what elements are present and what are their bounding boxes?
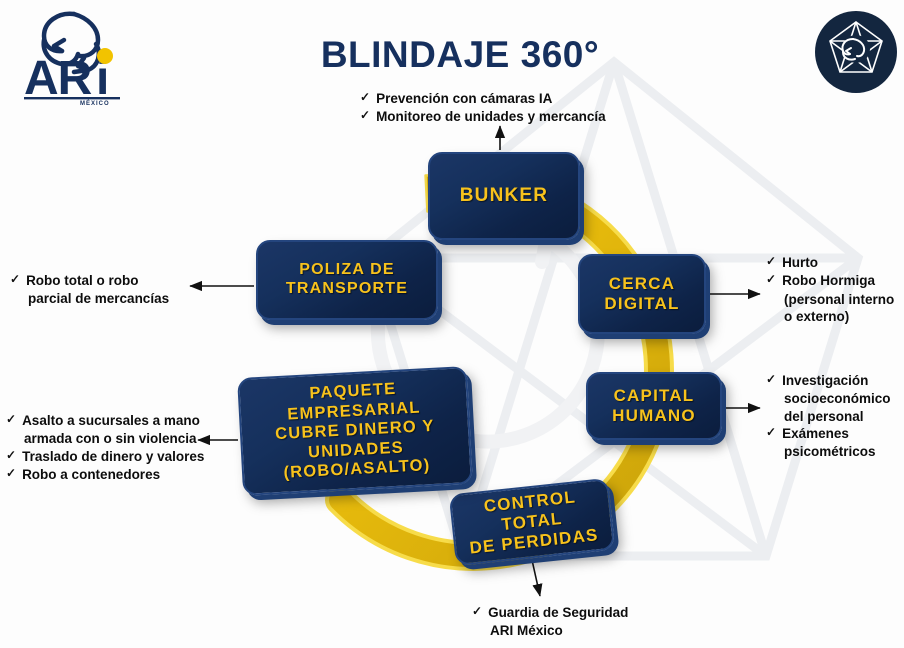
node-cerca-line2: DIGITAL <box>604 294 679 313</box>
callout-text-cont: (personal interno <box>766 291 904 308</box>
callout-text: Robo total o robo <box>26 272 138 289</box>
node-capital-line1: CAPITAL <box>614 386 695 405</box>
callout-item: ✓ Robo total o robo <box>10 272 190 289</box>
node-cerca-digital[interactable]: CERCA DIGITAL <box>578 254 706 334</box>
callout-text: Exámenes <box>782 425 849 442</box>
callout-text-cont: armada con o sin violencia <box>6 430 211 447</box>
callout-item: ✓ Guardia de Seguridad <box>472 604 628 621</box>
node-capital-humano[interactable]: CAPITAL HUMANO <box>586 372 722 440</box>
callout-poliza-de-transporte: ✓ Robo total o robo parcial de mercancía… <box>10 272 190 308</box>
check-icon: ✓ <box>6 466 16 482</box>
callout-text: Investigación <box>782 372 868 389</box>
ari-swirl-logo: AR i MÉXICO <box>18 6 138 106</box>
check-icon: ✓ <box>766 272 776 288</box>
callout-text-cont: del personal <box>766 408 904 425</box>
node-control-line1: CONTROL TOTAL <box>483 487 577 534</box>
check-icon: ✓ <box>360 108 370 124</box>
callout-text: Guardia de Seguridad <box>488 604 628 621</box>
callout-text: Robo a contenedores <box>22 466 160 483</box>
callout-text: Hurto <box>782 254 818 271</box>
check-icon: ✓ <box>766 254 776 270</box>
callout-text-cont: o externo) <box>766 308 904 325</box>
infographic-canvas: AR i MÉXICO BLINDAJE 360° <box>0 0 904 648</box>
callout-text-cont: socioeconómico <box>766 390 904 407</box>
check-icon: ✓ <box>360 90 370 106</box>
node-poliza-line2: TRANSPORTE <box>286 280 408 297</box>
node-bunker[interactable]: BUNKER <box>428 152 580 240</box>
check-icon: ✓ <box>472 604 482 620</box>
callout-cerca-digital: ✓ Hurto ✓ Robo Hormiga (personal interno… <box>766 254 904 325</box>
callout-item: ✓ Exámenes <box>766 425 904 442</box>
callout-item: ✓ Hurto <box>766 254 904 271</box>
node-bunker-label: BUNKER <box>460 185 548 207</box>
callout-text: Robo Hormiga <box>782 272 875 289</box>
callout-text-cont: parcial de mercancías <box>10 290 190 307</box>
callout-control-total: ✓ Guardia de Seguridad ARI México <box>472 604 628 640</box>
callout-text: Traslado de dinero y valores <box>22 448 204 465</box>
node-paquete-line4: (ROBO/ASALTO) <box>283 456 431 482</box>
callout-item: ✓ Robo Hormiga <box>766 272 904 289</box>
callout-item: ✓ Asalto a sucursales a mano <box>6 412 211 429</box>
callout-text-cont: ARI México <box>472 622 628 639</box>
node-paquete-line1: PAQUETE EMPRESARIAL <box>287 380 421 423</box>
callout-item: ✓ Robo a contenedores <box>6 466 211 483</box>
check-icon: ✓ <box>6 448 16 464</box>
callout-capital-humano: ✓ Investigación socioeconómico del perso… <box>766 372 904 460</box>
callout-paquete-empresarial: ✓ Asalto a sucursales a mano armada con … <box>6 412 211 484</box>
callout-text-cont: psicométricos <box>766 443 904 460</box>
callout-item: ✓ Monitoreo de unidades y mercancía <box>360 108 606 125</box>
callout-text: Monitoreo de unidades y mercancía <box>376 108 606 125</box>
callout-item: ✓ Investigación <box>766 372 904 389</box>
check-icon: ✓ <box>766 372 776 388</box>
svg-text:MÉXICO: MÉXICO <box>80 99 110 106</box>
node-capital-line2: HUMANO <box>612 406 696 425</box>
callout-item: ✓ Traslado de dinero y valores <box>6 448 211 465</box>
callout-text: Prevención con cámaras IA <box>376 90 552 107</box>
node-cerca-line1: CERCA <box>609 274 675 293</box>
callout-item: ✓ Prevención con cámaras IA <box>360 90 606 107</box>
callout-bunker: ✓ Prevención con cámaras IA ✓ Monitoreo … <box>360 90 606 127</box>
ari-star-pentagon-badge <box>812 8 900 96</box>
check-icon: ✓ <box>6 412 16 428</box>
node-poliza-de-transporte[interactable]: POLIZA DE TRANSPORTE <box>256 240 438 320</box>
check-icon: ✓ <box>766 425 776 441</box>
check-icon: ✓ <box>10 272 20 288</box>
callout-text: Asalto a sucursales a mano <box>22 412 200 429</box>
node-paquete-empresarial[interactable]: PAQUETE EMPRESARIAL CUBRE DINERO Y UNIDA… <box>237 366 473 496</box>
node-poliza-line1: POLIZA DE <box>299 261 395 278</box>
page-title: BLINDAJE 360° <box>300 34 620 76</box>
